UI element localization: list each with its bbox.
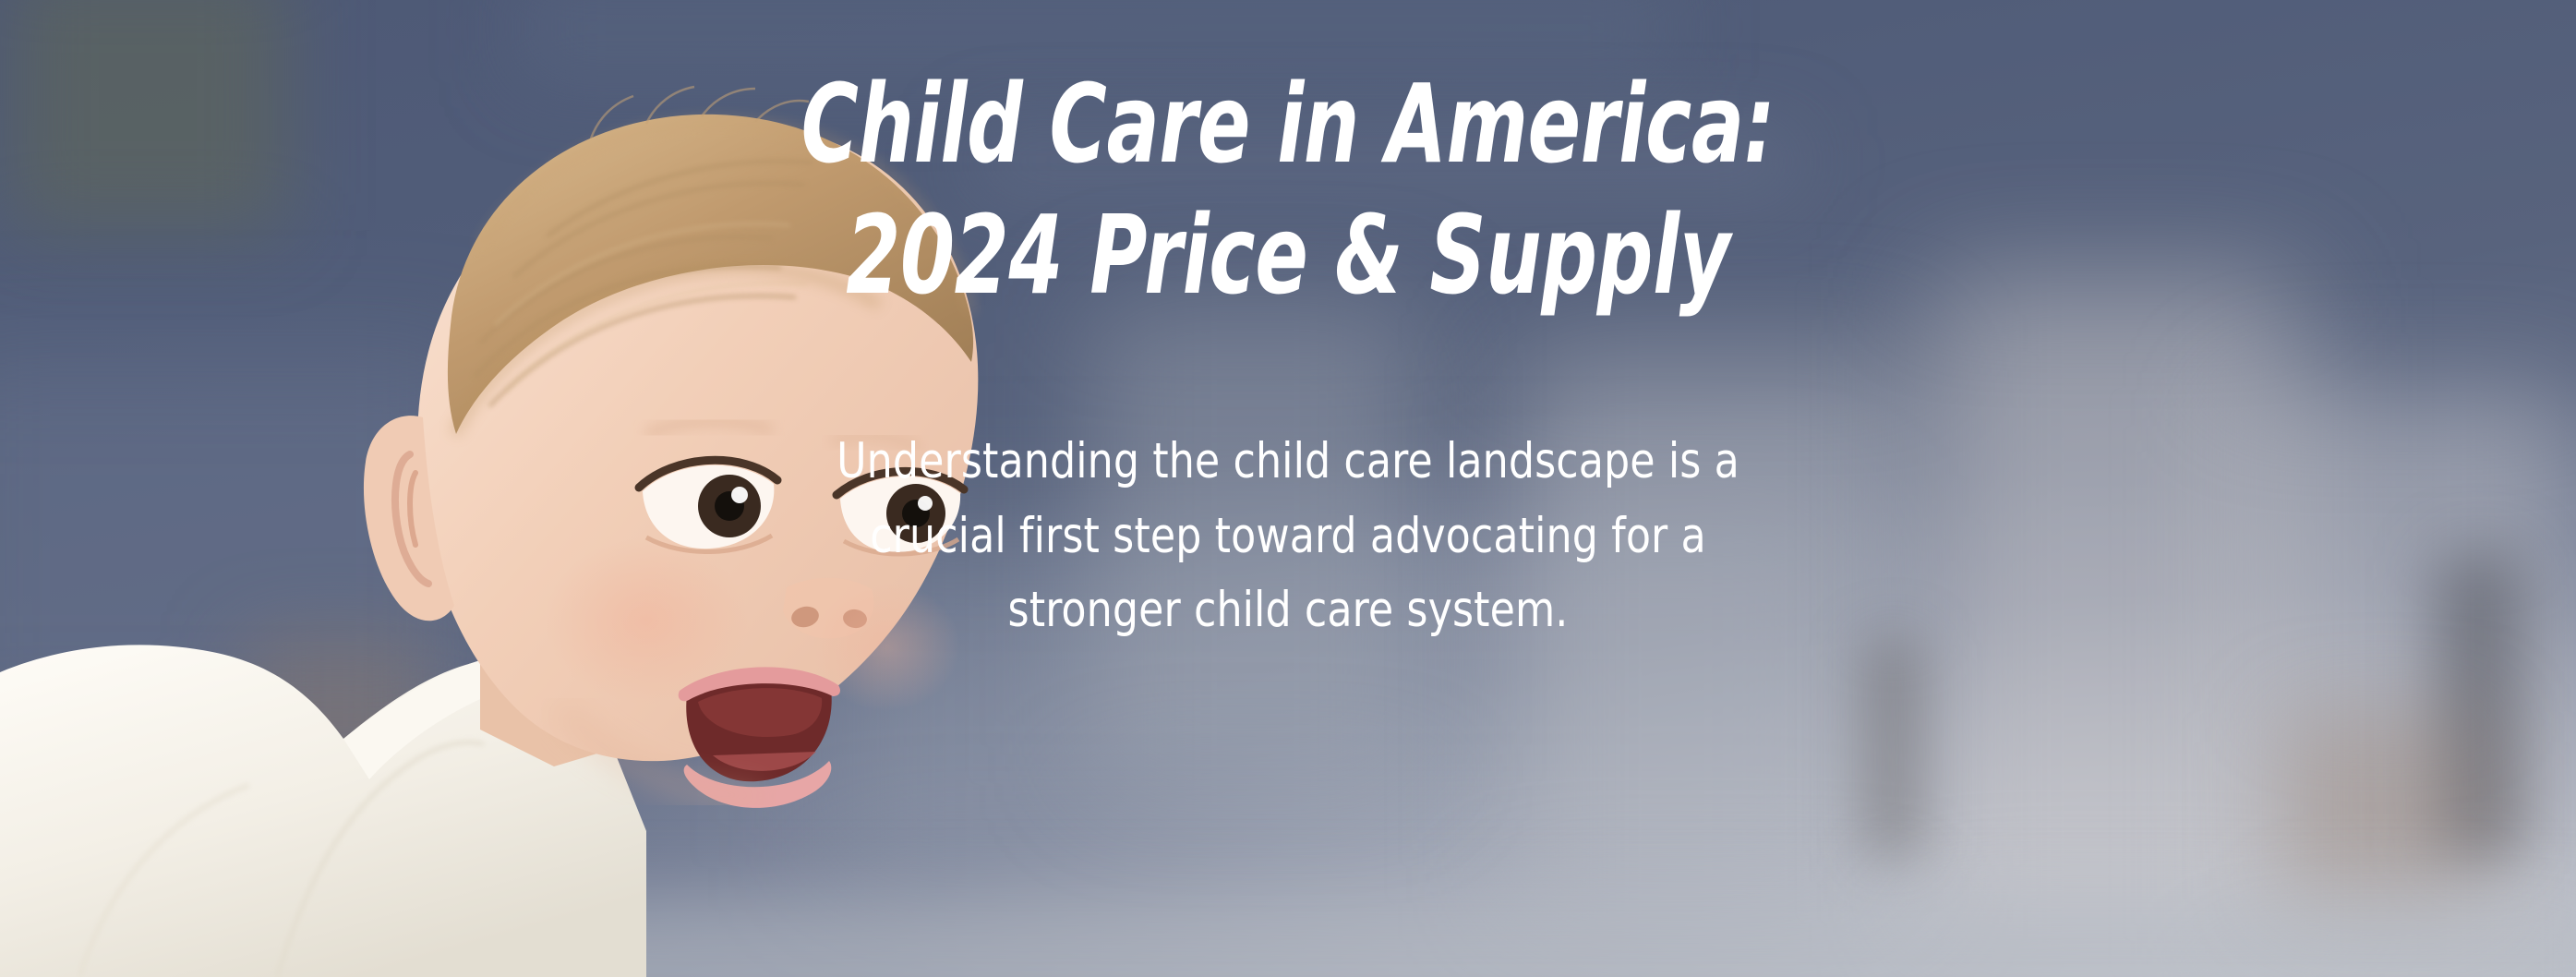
page-title-line-1: Child Care in America:: [697, 63, 1879, 185]
page-subtitle: Understanding the child care landscape i…: [820, 425, 1756, 648]
page-title-line-2: 2024 Price & Supply: [697, 194, 1879, 316]
hero-content: Child Care in America: 2024 Price & Supp…: [0, 0, 2576, 977]
hero-banner: Child Care in America: 2024 Price & Supp…: [0, 0, 2576, 977]
page-title: Child Care in America: 2024 Price & Supp…: [697, 0, 1879, 316]
